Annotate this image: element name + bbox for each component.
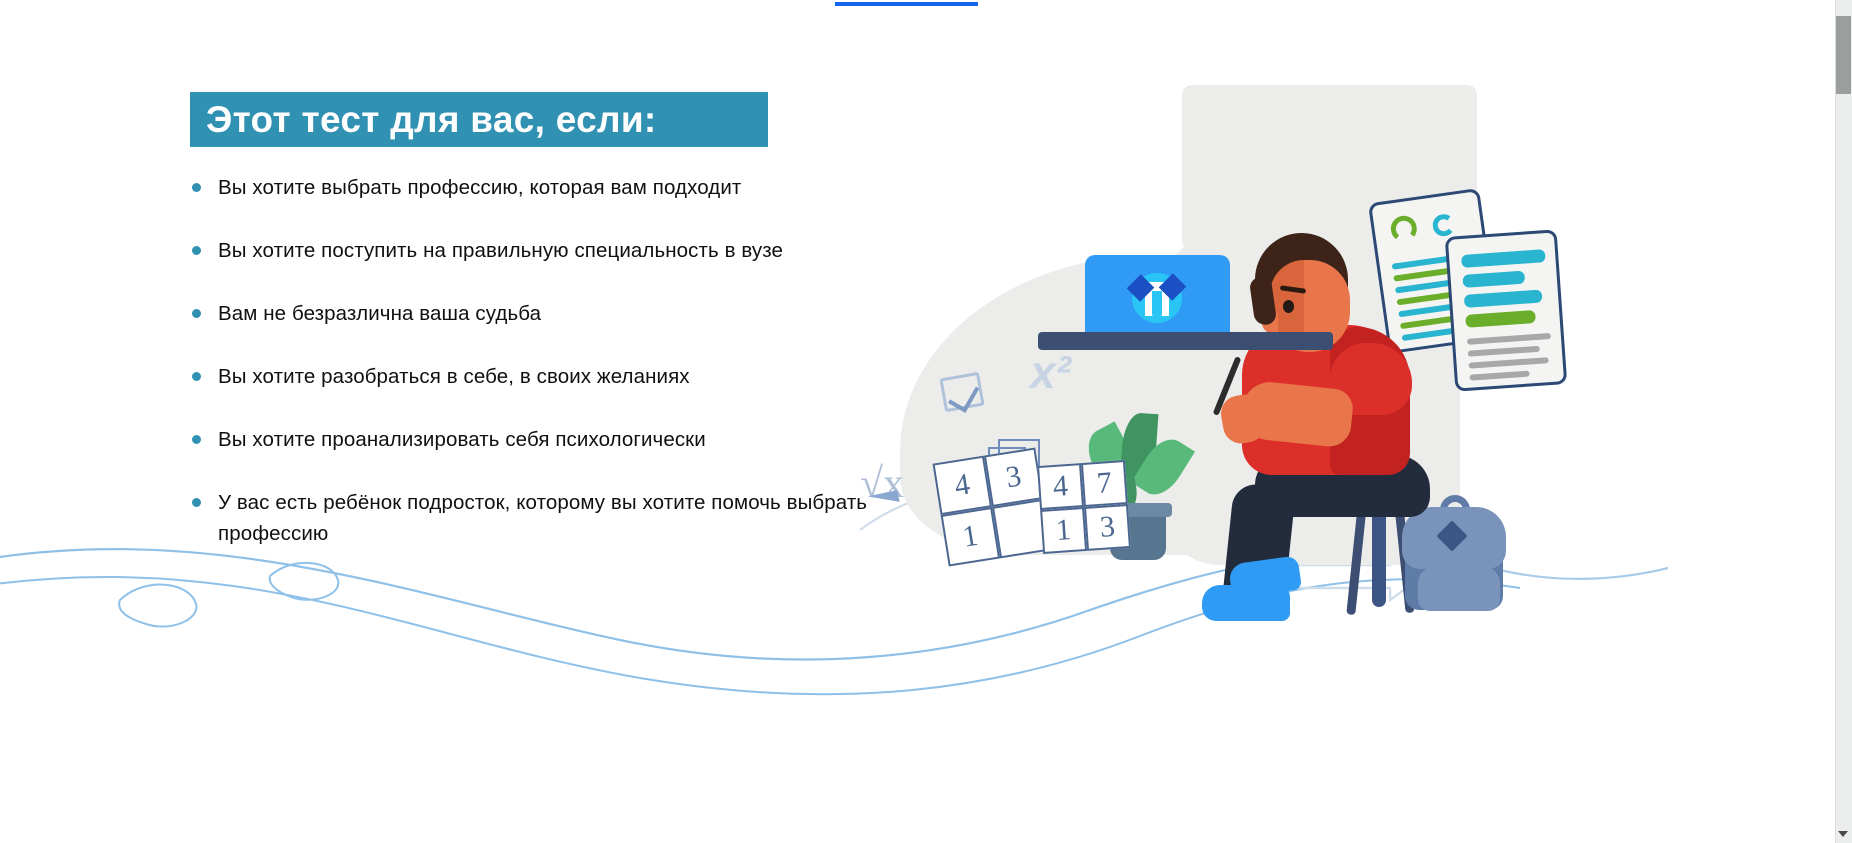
backpack-pocket [1418,567,1500,611]
doc-bigbar [1461,249,1546,268]
donut-chart-cyan-icon [1431,213,1456,238]
list-item-label: Вы хотите разобраться в себе, в своих же… [218,361,690,392]
heading-banner: Этот тест для вас, если: [190,92,768,147]
list-item-label: Вы хотите проанализировать себя психолог… [218,424,706,455]
doc-bigbar [1464,289,1543,307]
list-item-label: Вы хотите поступить на правильную специа… [218,235,783,266]
bullet-dot-icon [192,372,201,381]
doc-bar [1467,333,1551,345]
bullet-dot-icon [192,183,201,192]
list-item-label: Вы хотите выбрать профессию, которая вам… [218,172,741,203]
page-title: Этот тест для вас, если: [190,99,657,141]
bullet-dot-icon [192,309,201,318]
grid-cell: 4 [1037,463,1084,510]
doc-bar [1468,346,1540,357]
bullet-dot-icon [192,246,201,255]
checkbox-doodle-icon [939,372,984,412]
grid-cell: 1 [1040,507,1087,554]
grid-cell: 3 [984,448,1043,507]
list-item-label: Вам не безразлична ваша судьба [218,298,541,329]
scrollbar-thumb[interactable] [1836,16,1851,94]
slide-canvas: Этот тест для вас, если: Вы хотите выбра… [0,0,1852,843]
doc-bar [1469,357,1549,369]
bullet-dot-icon [192,498,201,507]
bullet-dot-icon [192,435,201,444]
number-grid-right: 4 7 1 3 [1037,460,1131,554]
desk-surface [1038,332,1333,350]
doc-bigbar [1465,310,1536,328]
illustration-group: x² √x 4 3 1 4 7 1 3 [860,55,1500,655]
donut-chart-green-icon [1389,214,1418,243]
person-eye [1283,300,1294,313]
paper-plane-doodle-icon [868,490,902,520]
top-link-underline[interactable] [835,2,978,6]
scroll-down-arrow-icon[interactable] [1838,831,1848,837]
grid-cell: 4 [933,456,992,515]
number-grid-left: 4 3 1 [933,448,1052,567]
grid-cell: 1 [941,507,1000,566]
vertical-scrollbar[interactable] [1835,0,1852,843]
grid-cell: 7 [1081,460,1128,507]
person-shoe-front [1202,585,1290,621]
laptop-logo-inner [1152,291,1162,317]
x-squared-doodle-icon: x² [1030,345,1071,399]
grid-cell: 3 [1084,504,1131,551]
doc-bar [1469,371,1529,381]
report-document-front [1445,229,1568,391]
doc-bigbar [1462,271,1525,288]
